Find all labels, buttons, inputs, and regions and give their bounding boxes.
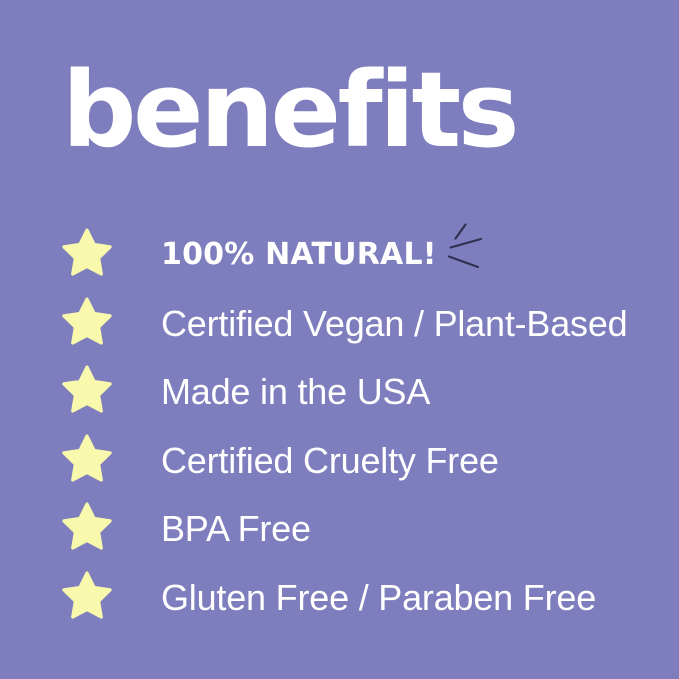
star-icon — [61, 433, 113, 485]
list-item-label: Made in the USA — [161, 358, 430, 427]
star-icon — [61, 364, 113, 416]
list-item-label: BPA Free — [161, 495, 311, 564]
star-icon — [61, 570, 113, 622]
list-item-3[interactable]: Made in the USA — [0, 358, 679, 427]
star-icon — [61, 501, 113, 553]
list-item-label: Certified Vegan / Plant-Based — [161, 290, 628, 359]
list-item-5[interactable]: BPA Free — [0, 495, 679, 564]
list-item-4[interactable]: Certified Cruelty Free — [0, 427, 679, 496]
list-item-1[interactable]: 100% NATURAL! — [0, 221, 679, 290]
list-item-label: Gluten Free / Paraben Free — [161, 564, 596, 633]
list-item-label: Certified Cruelty Free — [161, 427, 499, 496]
list-item-6[interactable]: Gluten Free / Paraben Free — [0, 564, 679, 633]
list-item-2[interactable]: Certified Vegan / Plant-Based — [0, 290, 679, 359]
star-icon — [61, 227, 113, 279]
star-icon — [61, 296, 113, 348]
list-item-label: 100% NATURAL! — [161, 221, 437, 290]
benefits-list: 100% NATURAL! Certified Vegan / Plant-Ba… — [0, 221, 679, 633]
page-title: benefits — [62, 54, 622, 166]
benefits-poster: benefits 100% NATURAL! Certified Vegan /… — [0, 0, 679, 679]
